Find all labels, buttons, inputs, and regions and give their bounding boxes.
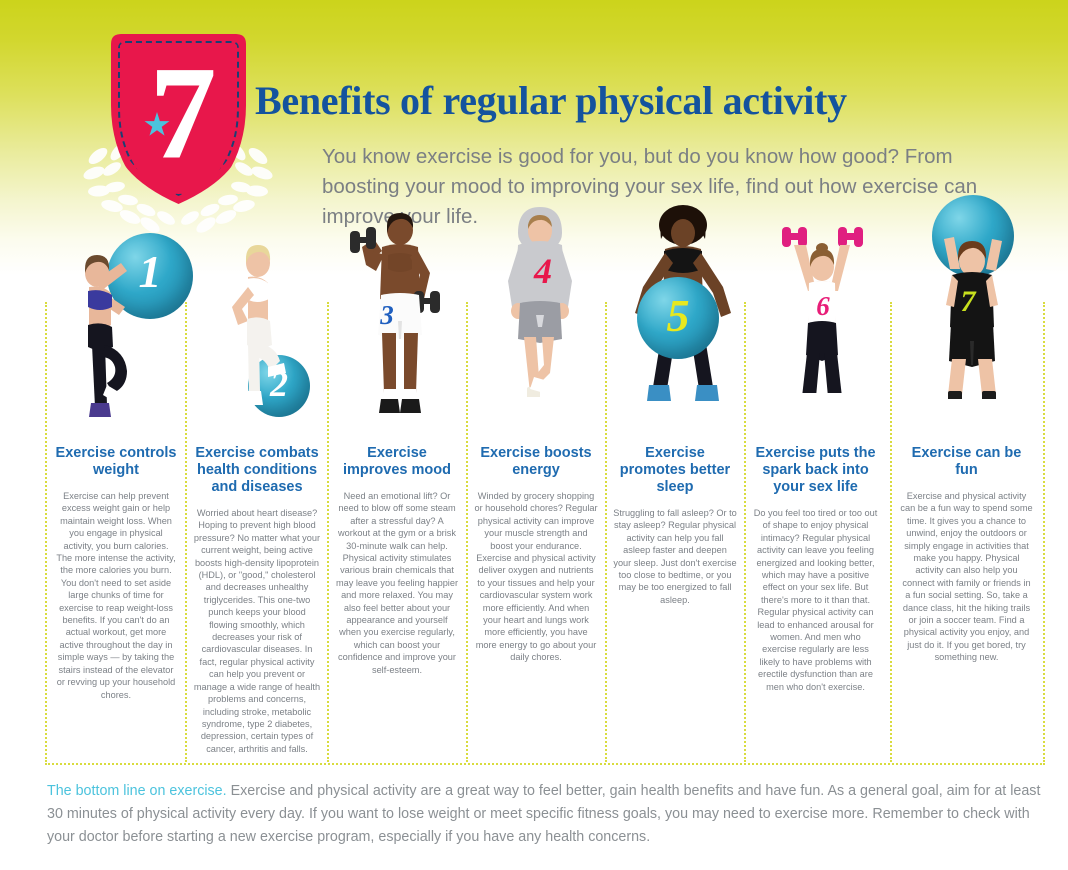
- person-silhouette-4: [478, 195, 608, 445]
- figure-row: 1: [0, 195, 1068, 445]
- benefit-heading: Exercise combats health conditions and d…: [193, 445, 321, 496]
- benefit-columns: Exercise controls weight Exercise can he…: [0, 445, 1068, 765]
- exercise-ball-5: 5: [637, 277, 719, 359]
- figure-number-3: 3: [322, 300, 452, 331]
- infographic-poster: 7 Benefits of regular physical activity …: [0, 0, 1068, 870]
- benefit-body: Exercise and physical activity can be a …: [900, 490, 1033, 664]
- figure-7: 7: [898, 195, 1038, 445]
- benefit-column-3: Exercise improves mood Need an emotional…: [335, 445, 459, 676]
- badge-number: 7: [150, 50, 240, 180]
- bottom-line-lead: The bottom line on exercise.: [47, 783, 227, 799]
- benefit-body: Do you feel too tired or too out of shap…: [752, 507, 879, 693]
- benefit-heading: Exercise boosts energy: [474, 445, 598, 479]
- figure-4: 4: [478, 195, 608, 445]
- benefit-body: Exercise can help prevent excess weight …: [55, 490, 177, 701]
- benefit-body: Struggling to fall asleep? Or to stay as…: [613, 507, 737, 606]
- benefit-heading: Exercise puts the spark back into your s…: [752, 445, 879, 496]
- figure-number-4: 4: [478, 250, 608, 292]
- benefit-column-7: Exercise can be fun Exercise and physica…: [900, 445, 1033, 664]
- figure-2: 2: [200, 195, 330, 445]
- benefit-body: Worried about heart disease? Hoping to p…: [193, 507, 321, 755]
- benefit-heading: Exercise controls weight: [55, 445, 177, 479]
- benefit-body: Need an emotional lift? Or need to blow …: [335, 490, 459, 676]
- benefit-heading: Exercise promotes better sleep: [613, 445, 737, 496]
- benefit-column-5: Exercise promotes better sleep Strugglin…: [613, 445, 737, 606]
- figure-number-6: 6: [758, 291, 888, 322]
- figure-5: 5: [615, 195, 750, 445]
- figure-1: 1: [55, 195, 185, 445]
- figure-3: 3: [340, 195, 470, 445]
- figure-number-7: 7: [898, 285, 1038, 319]
- benefit-column-4: Exercise boosts energy Winded by grocery…: [474, 445, 598, 664]
- figure-number-5: 5: [637, 289, 719, 342]
- benefit-body: Winded by grocery shopping or household …: [474, 490, 598, 664]
- benefit-column-6: Exercise puts the spark back into your s…: [752, 445, 879, 693]
- person-silhouette-1: [55, 195, 185, 445]
- page-title: Benefits of regular physical activity: [255, 78, 1045, 124]
- benefit-column-2: Exercise combats health conditions and d…: [193, 445, 321, 755]
- person-silhouette-2: [200, 195, 330, 445]
- bottom-line: The bottom line on exercise. Exercise an…: [47, 780, 1047, 849]
- benefit-heading: Exercise improves mood: [335, 445, 459, 479]
- figure-6: 6: [758, 195, 888, 445]
- benefit-heading: Exercise can be fun: [900, 445, 1033, 479]
- person-silhouette-7: [898, 195, 1038, 445]
- benefit-column-1: Exercise controls weight Exercise can he…: [55, 445, 177, 701]
